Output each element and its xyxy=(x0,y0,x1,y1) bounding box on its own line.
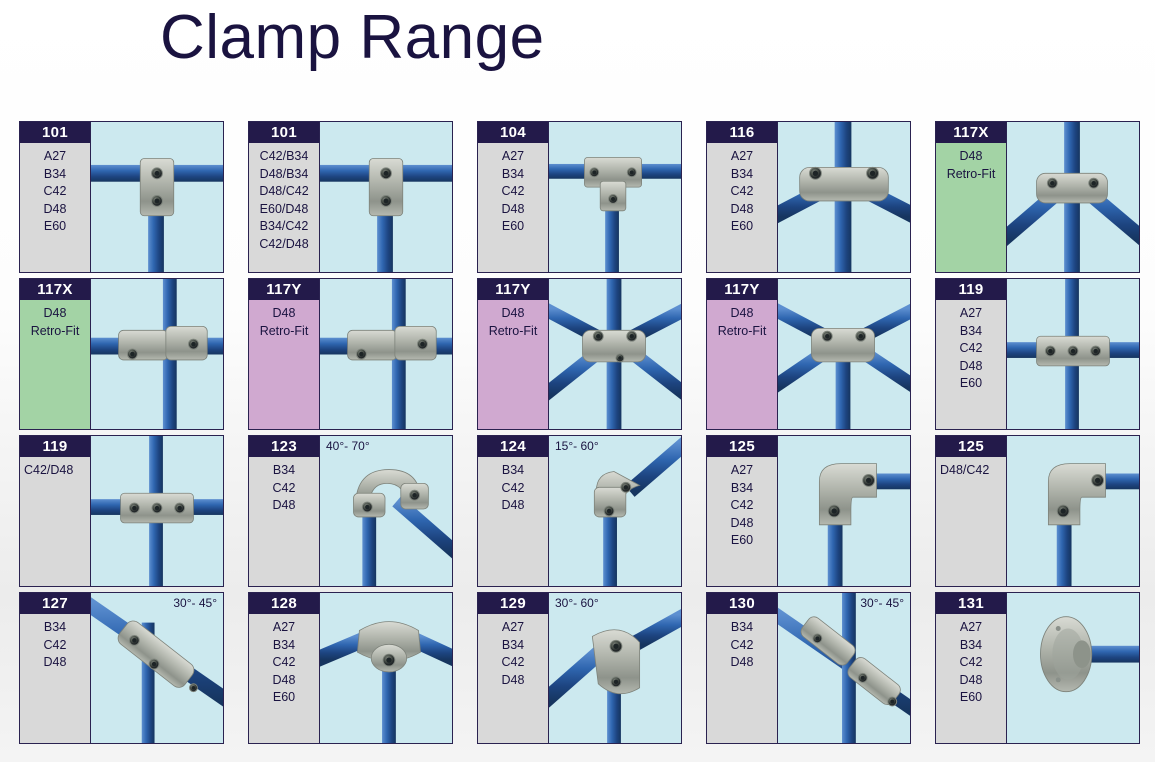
card-spec-item: D48 xyxy=(249,672,319,690)
card-spec-item: C42 xyxy=(478,654,548,672)
fitting-photo xyxy=(778,279,910,429)
card-spec-item: C42 xyxy=(249,480,319,498)
fitting-photo: 30°- 45° xyxy=(778,593,910,743)
card-spec-item: D48 xyxy=(20,201,90,219)
fitting-photo xyxy=(320,122,452,272)
card-spec-item: D48/B34 xyxy=(249,166,319,184)
card-spec-item: C42 xyxy=(20,637,90,655)
fitting-photo xyxy=(549,122,681,272)
card-spec-list: D48Retro-Fit xyxy=(249,300,319,429)
card-info-column: 123B34C42D48 xyxy=(249,436,320,586)
card-spec-item: C42 xyxy=(707,183,777,201)
card-spec-item: D48 xyxy=(936,148,1006,166)
card-code-header: 119 xyxy=(20,436,90,457)
clamp-card[interactable]: 119C42/D48 xyxy=(19,435,224,587)
angle-range-label: 30°- 60° xyxy=(555,596,599,610)
card-code-header: 119 xyxy=(936,279,1006,300)
card-spec-item: D48 xyxy=(707,515,777,533)
card-spec-list: D48/C42 xyxy=(936,457,1006,586)
fitting-photo xyxy=(778,122,910,272)
card-spec-item: Retro-Fit xyxy=(249,323,319,341)
angle-range-label: 30°- 45° xyxy=(860,596,904,610)
card-spec-item: Retro-Fit xyxy=(707,323,777,341)
card-spec-item: Retro-Fit xyxy=(20,323,90,341)
card-spec-item: D48 xyxy=(20,305,90,323)
card-spec-item: D48 xyxy=(249,305,319,323)
card-info-column: 117XD48Retro-Fit xyxy=(936,122,1007,272)
card-spec-list: B34C42D48 xyxy=(707,614,777,743)
card-info-column: 104A27B34C42D48E60 xyxy=(478,122,549,272)
card-spec-item: C42 xyxy=(707,497,777,515)
clamp-card[interactable]: 119A27B34C42D48E60 xyxy=(935,278,1140,430)
card-code-header: 116 xyxy=(707,122,777,143)
card-spec-item: B34 xyxy=(707,166,777,184)
card-spec-item: E60 xyxy=(707,532,777,550)
card-spec-list: D48Retro-Fit xyxy=(20,300,90,429)
clamp-card[interactable]: 116A27B34C42D48E60 xyxy=(706,121,911,273)
card-info-column: 119A27B34C42D48E60 xyxy=(936,279,1007,429)
card-info-column: 125A27B34C42D48E60 xyxy=(707,436,778,586)
card-spec-item: D48 xyxy=(707,654,777,672)
fitting-photo xyxy=(1007,279,1139,429)
card-spec-item: D48/C42 xyxy=(940,462,1006,480)
fitting-photo: 15°- 60° xyxy=(549,436,681,586)
card-info-column: 124B34C42D48 xyxy=(478,436,549,586)
clamp-card[interactable]: 130B34C42D48 30°- 45° xyxy=(706,592,911,744)
card-spec-item: B34 xyxy=(936,323,1006,341)
card-code-header: 125 xyxy=(707,436,777,457)
card-code-header: 117X xyxy=(936,122,1006,143)
card-spec-list: D48Retro-Fit xyxy=(707,300,777,429)
card-code-header: 104 xyxy=(478,122,548,143)
card-info-column: 131A27B34C42D48E60 xyxy=(936,593,1007,743)
clamp-card[interactable]: 117YD48Retro-Fit xyxy=(477,278,682,430)
card-info-column: 116A27B34C42D48E60 xyxy=(707,122,778,272)
card-spec-item: E60 xyxy=(936,375,1006,393)
card-code-header: 129 xyxy=(478,593,548,614)
card-spec-item: D48 xyxy=(707,201,777,219)
card-spec-item: B34 xyxy=(20,619,90,637)
card-code-header: 124 xyxy=(478,436,548,457)
clamp-card[interactable]: 101C42/B34D48/B34D48/C42E60/D48B34/C42C4… xyxy=(248,121,453,273)
angle-range-label: 15°- 60° xyxy=(555,439,599,453)
card-spec-list: B34C42D48 xyxy=(478,457,548,586)
card-code-header: 123 xyxy=(249,436,319,457)
card-info-column: 117YD48Retro-Fit xyxy=(707,279,778,429)
card-spec-item: C42 xyxy=(20,183,90,201)
card-spec-item: C42/D48 xyxy=(24,462,90,480)
card-spec-item: B34/C42 xyxy=(249,218,319,236)
clamp-card[interactable]: 123B34C42D48 40°- 70° xyxy=(248,435,453,587)
clamp-card[interactable]: 128A27B34C42D48E60 xyxy=(248,592,453,744)
card-spec-item: D48 xyxy=(249,497,319,515)
card-spec-item: B34 xyxy=(478,166,548,184)
card-info-column: 125D48/C42 xyxy=(936,436,1007,586)
card-spec-item: A27 xyxy=(707,462,777,480)
card-spec-list: B34C42D48 xyxy=(249,457,319,586)
card-spec-list: D48Retro-Fit xyxy=(478,300,548,429)
card-spec-list: C42/D48 xyxy=(20,457,90,586)
clamp-card[interactable]: 101A27B34C42D48E60 xyxy=(19,121,224,273)
card-spec-item: A27 xyxy=(936,305,1006,323)
fitting-photo xyxy=(549,279,681,429)
card-spec-item: Retro-Fit xyxy=(478,323,548,341)
fitting-photo: 30°- 60° xyxy=(549,593,681,743)
card-spec-item: D48 xyxy=(707,305,777,323)
card-spec-item: D48 xyxy=(478,201,548,219)
card-info-column: 129A27B34C42D48 xyxy=(478,593,549,743)
card-code-header: 128 xyxy=(249,593,319,614)
card-info-column: 128A27B34C42D48E60 xyxy=(249,593,320,743)
card-spec-item: D48 xyxy=(478,497,548,515)
card-spec-item: C42 xyxy=(249,654,319,672)
clamp-card[interactable]: 117YD48Retro-Fit xyxy=(706,278,911,430)
card-spec-item: A27 xyxy=(478,619,548,637)
card-info-column: 101A27B34C42D48E60 xyxy=(20,122,91,272)
card-spec-item: A27 xyxy=(249,619,319,637)
card-spec-list: A27B34C42D48E60 xyxy=(936,300,1006,429)
fitting-photo xyxy=(91,436,223,586)
fitting-photo xyxy=(91,279,223,429)
clamp-card[interactable]: 117XD48Retro-Fit xyxy=(19,278,224,430)
clamp-card[interactable]: 117XD48Retro-Fit xyxy=(935,121,1140,273)
card-spec-item: C42/D48 xyxy=(249,236,319,254)
card-spec-item: Retro-Fit xyxy=(936,166,1006,184)
card-spec-item: E60 xyxy=(707,218,777,236)
card-spec-item: B34 xyxy=(249,637,319,655)
fitting-photo: 40°- 70° xyxy=(320,436,452,586)
card-spec-item: C42 xyxy=(478,480,548,498)
card-spec-item: D48 xyxy=(478,305,548,323)
card-info-column: 130B34C42D48 xyxy=(707,593,778,743)
card-spec-item: E60 xyxy=(478,218,548,236)
fitting-photo: 30°- 45° xyxy=(91,593,223,743)
page-title: Clamp Range xyxy=(160,2,545,73)
card-code-header: 117X xyxy=(20,279,90,300)
card-spec-item: B34 xyxy=(707,619,777,637)
card-spec-item: B34 xyxy=(478,637,548,655)
fitting-photo xyxy=(320,593,452,743)
card-spec-list: A27B34C42D48E60 xyxy=(249,614,319,743)
card-spec-item: E60 xyxy=(936,689,1006,707)
card-spec-item: A27 xyxy=(936,619,1006,637)
card-spec-item: D48 xyxy=(20,654,90,672)
clamp-card[interactable]: 104A27B34C42D48E60 xyxy=(477,121,682,273)
card-spec-list: D48Retro-Fit xyxy=(936,143,1006,272)
clamp-card[interactable]: 127B34C42D48 30°- 45° xyxy=(19,592,224,744)
card-spec-list: A27B34C42D48E60 xyxy=(20,143,90,272)
clamp-card[interactable]: 124B34C42D48 15°- 60° xyxy=(477,435,682,587)
card-spec-item: C42 xyxy=(478,183,548,201)
clamp-card[interactable]: 117YD48Retro-Fit xyxy=(248,278,453,430)
card-spec-list: A27B34C42D48E60 xyxy=(707,143,777,272)
angle-range-label: 30°- 45° xyxy=(173,596,217,610)
card-code-header: 127 xyxy=(20,593,90,614)
card-spec-item: C42/B34 xyxy=(249,148,319,166)
card-code-header: 117Y xyxy=(478,279,548,300)
card-spec-list: A27B34C42D48E60 xyxy=(707,457,777,586)
card-spec-item: A27 xyxy=(20,148,90,166)
card-code-header: 117Y xyxy=(249,279,319,300)
fitting-photo xyxy=(91,122,223,272)
card-spec-item: C42 xyxy=(936,654,1006,672)
clamp-card[interactable]: 131A27B34C42D48E60 xyxy=(935,592,1140,744)
card-spec-item: D48 xyxy=(936,358,1006,376)
card-spec-item: B34 xyxy=(707,480,777,498)
card-spec-item: E60 xyxy=(249,689,319,707)
card-code-header: 130 xyxy=(707,593,777,614)
card-spec-item: A27 xyxy=(707,148,777,166)
card-info-column: 117XD48Retro-Fit xyxy=(20,279,91,429)
fitting-photo xyxy=(1007,593,1139,743)
card-info-column: 101C42/B34D48/B34D48/C42E60/D48B34/C42C4… xyxy=(249,122,320,272)
card-spec-item: E60 xyxy=(20,218,90,236)
card-spec-item: E60/D48 xyxy=(249,201,319,219)
card-code-header: 117Y xyxy=(707,279,777,300)
fitting-photo xyxy=(778,436,910,586)
card-code-header: 131 xyxy=(936,593,1006,614)
card-spec-list: C42/B34D48/B34D48/C42E60/D48B34/C42C42/D… xyxy=(249,143,319,272)
card-info-column: 117YD48Retro-Fit xyxy=(478,279,549,429)
fitting-photo xyxy=(1007,122,1139,272)
card-spec-list: B34C42D48 xyxy=(20,614,90,743)
clamp-card[interactable]: 125A27B34C42D48E60 xyxy=(706,435,911,587)
angle-range-label: 40°- 70° xyxy=(326,439,370,453)
card-spec-item: D48 xyxy=(936,672,1006,690)
fitting-photo xyxy=(1007,436,1139,586)
card-spec-item: C42 xyxy=(936,340,1006,358)
card-info-column: 119C42/D48 xyxy=(20,436,91,586)
card-spec-item: B34 xyxy=(478,462,548,480)
clamp-card[interactable]: 125D48/C42 xyxy=(935,435,1140,587)
card-spec-list: A27B34C42D48 xyxy=(478,614,548,743)
card-info-column: 117YD48Retro-Fit xyxy=(249,279,320,429)
card-spec-list: A27B34C42D48E60 xyxy=(478,143,548,272)
card-spec-item: D48 xyxy=(478,672,548,690)
card-spec-item: D48/C42 xyxy=(249,183,319,201)
card-info-column: 127B34C42D48 xyxy=(20,593,91,743)
card-code-header: 101 xyxy=(20,122,90,143)
card-spec-item: B34 xyxy=(20,166,90,184)
card-code-header: 125 xyxy=(936,436,1006,457)
card-spec-item: A27 xyxy=(478,148,548,166)
clamp-card-grid: 101A27B34C42D48E60 101C42/B34D48/B34D48/… xyxy=(19,121,1139,744)
card-spec-item: B34 xyxy=(249,462,319,480)
fitting-photo xyxy=(320,279,452,429)
card-spec-item: C42 xyxy=(707,637,777,655)
card-spec-list: A27B34C42D48E60 xyxy=(936,614,1006,743)
card-code-header: 101 xyxy=(249,122,319,143)
card-spec-item: B34 xyxy=(936,637,1006,655)
clamp-card[interactable]: 129A27B34C42D48 30°- 60° xyxy=(477,592,682,744)
